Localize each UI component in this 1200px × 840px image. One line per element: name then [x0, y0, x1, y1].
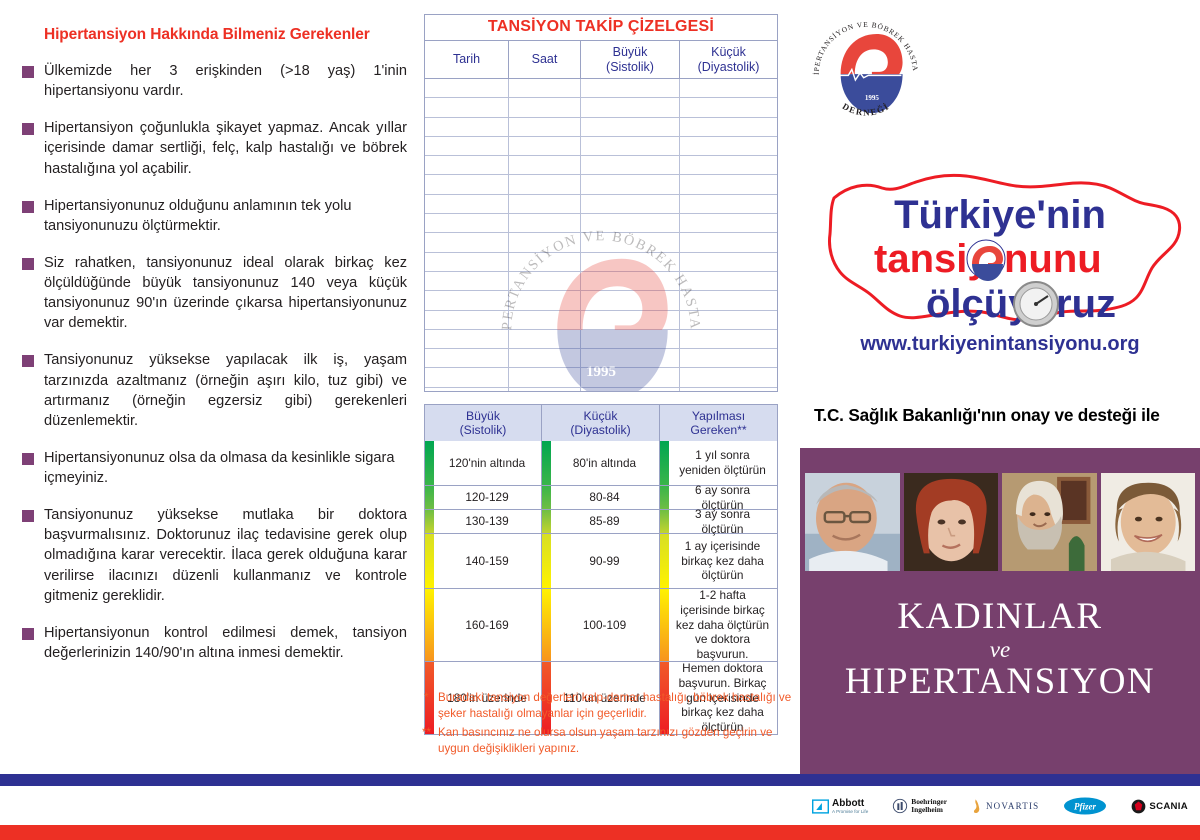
- tracking-table-row[interactable]: [425, 291, 777, 310]
- tracking-table-cell[interactable]: [680, 98, 777, 116]
- tracking-table-cell[interactable]: [581, 137, 680, 155]
- systolic-label-line2: (Sistolik): [606, 60, 654, 74]
- tracking-table-cell[interactable]: [680, 214, 777, 232]
- campaign-line-nunu: nunu: [1004, 237, 1102, 281]
- tracking-table-cell[interactable]: [680, 137, 777, 155]
- tracking-table-cell[interactable]: [509, 233, 581, 251]
- campaign-line-ruz: ruz: [1056, 282, 1116, 326]
- tracking-table-row[interactable]: [425, 214, 777, 233]
- severity-gradient-bar: [542, 534, 551, 588]
- tracking-table-cell[interactable]: [680, 175, 777, 193]
- red-footer-bar: [0, 825, 1200, 840]
- tracking-table-cell[interactable]: [425, 368, 509, 386]
- class-cell-systolic: 130-139: [425, 510, 542, 533]
- tracking-table-cell[interactable]: [509, 156, 581, 174]
- tracking-table-row[interactable]: [425, 98, 777, 117]
- class-cell-diastolic: 90-99: [542, 534, 660, 588]
- sponsor-novartis: NOVARTIS: [971, 798, 1039, 814]
- class-cell-diastolic-text: 90-99: [589, 554, 619, 569]
- severity-gradient-bar: [425, 534, 434, 588]
- tracking-table-row[interactable]: [425, 311, 777, 330]
- pressure-gauge-icon: [1014, 282, 1058, 326]
- tracking-table-cell[interactable]: [581, 214, 680, 232]
- photo-strip: [805, 473, 1195, 571]
- class-cell-diastolic: 80-84: [542, 486, 660, 509]
- class-cell-systolic-text: 160-169: [465, 618, 508, 633]
- systolic-label-line1: Büyük: [606, 45, 654, 59]
- bullet-square-icon: [22, 510, 34, 522]
- tracking-table-cell[interactable]: [509, 291, 581, 309]
- tracking-table-row[interactable]: [425, 368, 777, 387]
- elderly-woman-headscarf-photo: [1002, 473, 1097, 571]
- blue-divider-bar: [0, 774, 1200, 786]
- class-cell-action-text: 1 yıl sonra yeniden ölçtürün: [674, 448, 771, 477]
- info-bullet-item: Siz rahatken, tansiyonunuz ideal olarak …: [22, 253, 407, 334]
- tracking-col-header-systolic: Büyük (Sistolik): [581, 41, 680, 78]
- tracking-table-cell[interactable]: [680, 349, 777, 367]
- class-cell-diastolic: 100-109: [542, 589, 660, 661]
- tracking-table-cell[interactable]: [509, 79, 581, 97]
- tracking-table-cell[interactable]: [509, 330, 581, 348]
- tracking-table-cell[interactable]: [581, 79, 680, 97]
- class-cell-action-text: 3 ay sonra ölçtürün: [674, 507, 771, 536]
- tracking-table-cell[interactable]: [425, 291, 509, 309]
- info-bullet-list: Ülkemizde her 3 erişkinden (>18 yaş) 1'i…: [22, 61, 407, 663]
- class-cell-systolic-text: 140-159: [465, 554, 508, 569]
- tracking-table-cell[interactable]: [680, 291, 777, 309]
- bullet-square-icon: [22, 66, 34, 78]
- tracking-table-cell[interactable]: [425, 98, 509, 116]
- info-bullet-item: Tansiyonunuz yüksekse mutlaka bir doktor…: [22, 505, 407, 606]
- tracking-table-cell[interactable]: [581, 349, 680, 367]
- tracking-table-cell[interactable]: [581, 156, 680, 174]
- elderly-woman-with-glasses-photo: [805, 473, 900, 571]
- class-cell-action: 6 ay sonra ölçtürün: [660, 486, 777, 509]
- cover-panel: KADINLAR ve HIPERTANSIYON: [800, 448, 1200, 774]
- abbott-icon: [812, 798, 829, 815]
- boehringer-icon: [892, 798, 908, 814]
- tracking-table-cell[interactable]: [509, 388, 581, 392]
- scania-label: SCANIA: [1149, 801, 1188, 812]
- tracking-table-cell[interactable]: [581, 368, 680, 386]
- tracking-table-row[interactable]: [425, 137, 777, 156]
- pfizer-icon: Pfizer: [1063, 796, 1107, 816]
- info-column-heading: Hipertansiyon Hakkında Bilmeniz Gerekenl…: [44, 26, 407, 44]
- boehringer-label: BoehringerIngelheim: [911, 798, 947, 814]
- tracking-table-cell[interactable]: [680, 195, 777, 213]
- bullet-square-icon: [22, 123, 34, 135]
- tracking-table-cell[interactable]: [581, 388, 680, 392]
- info-bullet-text: Hipertansiyon çoğunlukla şikayet yapmaz.…: [44, 118, 407, 178]
- severity-gradient-bar: [660, 534, 669, 588]
- tracking-table-cell[interactable]: [509, 368, 581, 386]
- info-bullet-text: Siz rahatken, tansiyonunuz ideal olarak …: [44, 253, 407, 334]
- classification-row: 120'nin altında80'in altında1 yıl sonra …: [425, 441, 777, 485]
- tracking-table-cell[interactable]: [509, 272, 581, 290]
- info-bullet-text: Hipertansiyonun kontrol edilmesi demek, …: [44, 623, 407, 663]
- tracking-table-row[interactable]: [425, 175, 777, 194]
- classification-header-row: Büyük (Sistolik) Küçük (Diyastolik) Yapı…: [425, 405, 777, 441]
- severity-gradient-bar: [425, 510, 434, 533]
- info-bullet-item: Ülkemizde her 3 erişkinden (>18 yaş) 1'i…: [22, 61, 407, 101]
- footnotes: *Buradaki tansiyon değerleri kalp-damar …: [424, 690, 794, 760]
- severity-gradient-bar: [660, 510, 669, 533]
- tracking-table-cell[interactable]: [425, 311, 509, 329]
- tracking-table-row[interactable]: [425, 349, 777, 368]
- tracking-table-cell[interactable]: [425, 137, 509, 155]
- info-bullet-item: Hipertansiyonunuz olsa da olmasa da kesi…: [22, 448, 407, 488]
- class-cell-action: 1 ay içerisinde birkaç kez daha ölçtürün: [660, 534, 777, 588]
- class-cell-systolic-text: 130-139: [465, 514, 508, 529]
- classification-row: 120-12980-846 ay sonra ölçtürün: [425, 485, 777, 509]
- campaign-line-turkiyenin: Türkiye'nin: [894, 193, 1106, 237]
- abbott-label: Abbott: [832, 798, 868, 809]
- class-cell-systolic: 120-129: [425, 486, 542, 509]
- classification-row: 130-13985-893 ay sonra ölçtürün: [425, 509, 777, 533]
- title-line-kadinlar: KADINLAR: [800, 598, 1200, 637]
- class-cell-action: 1-2 hafta içerisinde birkaç kez daha ölç…: [660, 589, 777, 661]
- brochure-page: Hipertansiyon Hakkında Bilmeniz Gerekenl…: [0, 0, 1200, 840]
- classification-row: 140-15990-991 ay içerisinde birkaç kez d…: [425, 533, 777, 588]
- bullet-square-icon: [22, 355, 34, 367]
- tracking-table-cell[interactable]: [680, 118, 777, 136]
- tracking-table-cell[interactable]: [581, 233, 680, 251]
- class-cell-action-text: 1-2 hafta içerisinde birkaç kez daha ölç…: [674, 588, 771, 662]
- campaign-logo: Türkiye'nin tansiy nunu ölçüy ruz www.tu…: [808, 142, 1192, 364]
- tracking-table-cell[interactable]: [509, 311, 581, 329]
- abbott-tagline: A Promise for Life: [832, 809, 868, 814]
- tracking-table-cell[interactable]: [680, 253, 777, 271]
- footnote-text: Kan basıncınız ne olursa olsun yaşam tar…: [438, 726, 772, 755]
- tracking-table-cell[interactable]: [581, 311, 680, 329]
- tracking-table-cell[interactable]: [509, 137, 581, 155]
- tracking-table-cell[interactable]: [509, 98, 581, 116]
- tracking-table-cell[interactable]: [581, 291, 680, 309]
- class-cell-diastolic-text: 100-109: [583, 618, 626, 633]
- info-column: Hipertansiyon Hakkında Bilmeniz Gerekenl…: [22, 26, 407, 680]
- tracking-table-cell[interactable]: [680, 233, 777, 251]
- info-bullet-item: Hipertansiyonun kontrol edilmesi demek, …: [22, 623, 407, 663]
- tracking-col-header-time: Saat: [509, 41, 581, 78]
- tracking-col-header-diastolic: Küçük (Diyastolik): [680, 41, 777, 78]
- class-col-header-action: Yapılması Gereken**: [660, 405, 777, 441]
- class-cell-systolic: 140-159: [425, 534, 542, 588]
- tracking-table-cell[interactable]: [425, 175, 509, 193]
- class-cell-diastolic-text: 85-89: [589, 514, 619, 529]
- info-bullet-text: Hipertansiyonunuz olsa da olmasa da kesi…: [44, 448, 407, 488]
- tracking-table-cell[interactable]: [509, 175, 581, 193]
- severity-gradient-bar: [425, 589, 434, 661]
- tracking-table-row[interactable]: [425, 388, 777, 392]
- tracking-table-cell[interactable]: [680, 156, 777, 174]
- young-woman-red-hair-photo: [904, 473, 999, 571]
- severity-gradient-bar: [660, 441, 669, 485]
- diastolic-label-line2: (Diyastolik): [698, 60, 760, 74]
- brochure-title: KADINLAR ve HIPERTANSIYON: [800, 598, 1200, 702]
- class-cell-systolic: 160-169: [425, 589, 542, 661]
- campaign-website-url[interactable]: www.turkiyenintansiyonu.org: [859, 333, 1139, 355]
- tracking-table-cell[interactable]: [425, 388, 509, 392]
- tracking-table-cell[interactable]: [581, 272, 680, 290]
- tracking-table-cell[interactable]: [425, 214, 509, 232]
- class-col-header-diastolic: Küçük (Diyastolik): [542, 405, 660, 441]
- tracking-table-cell[interactable]: [425, 253, 509, 271]
- tracking-table-row[interactable]: [425, 156, 777, 175]
- tracking-table-row[interactable]: [425, 330, 777, 349]
- tracking-table-title: TANSİYON TAKİP ÇİZELGESİ: [425, 15, 777, 41]
- tracking-table-body: [425, 79, 777, 392]
- tracking-table-header-row: Tarih Saat Büyük (Sistolik) Küçük (Diyas…: [425, 41, 777, 79]
- diastolic-label-line1: Küçük: [698, 45, 760, 59]
- severity-gradient-bar: [542, 589, 551, 661]
- tracking-table-row[interactable]: [425, 233, 777, 252]
- tracking-table-cell[interactable]: [425, 156, 509, 174]
- info-bullet-item: Hipertansiyonunuz olduğunu anlamının tek…: [22, 196, 407, 236]
- tracking-table-row[interactable]: [425, 79, 777, 98]
- title-connector-ve: ve: [800, 637, 1200, 663]
- tracking-table-cell[interactable]: [680, 79, 777, 97]
- severity-gradient-bar: [542, 486, 551, 509]
- novartis-label: NOVARTIS: [986, 801, 1039, 811]
- tracking-table-cell[interactable]: [509, 253, 581, 271]
- footnote-marker: **: [422, 725, 431, 741]
- tracking-table-cell[interactable]: [509, 195, 581, 213]
- info-bullet-item: Tansiyonunuz yüksekse yapılacak ilk iş, …: [22, 350, 407, 431]
- bullet-square-icon: [22, 453, 34, 465]
- tracking-table-cell[interactable]: [425, 195, 509, 213]
- info-bullet-text: Tansiyonunuz yüksekse yapılacak ilk iş, …: [44, 350, 407, 431]
- sponsor-boehringer-ingelheim: BoehringerIngelheim: [892, 798, 947, 814]
- info-bullet-text: Tansiyonunuz yüksekse mutlaka bir doktor…: [44, 505, 407, 606]
- footnote-text: Buradaki tansiyon değerleri kalp-damar h…: [438, 691, 791, 720]
- class-cell-diastolic-text: 80'in altında: [573, 456, 636, 471]
- info-bullet-text: Hipertansiyonunuz olduğunu anlamının tek…: [44, 196, 407, 236]
- tracking-table-cell[interactable]: [680, 311, 777, 329]
- tracking-col-header-date: Tarih: [425, 41, 509, 78]
- severity-gradient-bar: [542, 441, 551, 485]
- classification-row: 160-169100-1091-2 hafta içerisinde birka…: [425, 588, 777, 661]
- tracking-table-row[interactable]: [425, 253, 777, 272]
- novartis-icon: [971, 798, 983, 814]
- tracking-table-cell[interactable]: [581, 118, 680, 136]
- tracking-table-cell[interactable]: [581, 175, 680, 193]
- info-bullet-item: Hipertansiyon çoğunlukla şikayet yapmaz.…: [22, 118, 407, 178]
- severity-gradient-bar: [660, 589, 669, 661]
- tracking-table-cell[interactable]: [509, 118, 581, 136]
- tracking-table-cell[interactable]: [425, 233, 509, 251]
- class-col-header-systolic: Büyük (Sistolik): [425, 405, 542, 441]
- class-cell-systolic-text: 120-129: [465, 490, 508, 505]
- class-cell-systolic: 120'nin altında: [425, 441, 542, 485]
- scania-icon: [1131, 799, 1146, 814]
- smiling-young-woman-photo: [1101, 473, 1196, 571]
- severity-gradient-bar: [425, 441, 434, 485]
- tracking-table-row[interactable]: [425, 118, 777, 137]
- sponsor-abbott: Abbott A Promise for Life: [812, 798, 868, 815]
- tracking-table-cell[interactable]: [680, 272, 777, 290]
- info-bullet-text: Ülkemizde her 3 erişkinden (>18 yaş) 1'i…: [44, 61, 407, 101]
- tracking-table-cell[interactable]: [581, 195, 680, 213]
- tracking-table-cell[interactable]: [680, 330, 777, 348]
- severity-gradient-bar: [425, 486, 434, 509]
- society-logo: 1995 TÜRK HİPERTANSİYON VE BÖBREK HASTAL…: [800, 14, 932, 132]
- bullet-square-icon: [22, 201, 34, 213]
- severity-gradient-bar: [542, 510, 551, 533]
- tracking-table-cell[interactable]: [581, 98, 680, 116]
- tracking-table-row[interactable]: [425, 195, 777, 214]
- sponsor-pfizer: Pfizer: [1063, 796, 1107, 816]
- severity-gradient-bar: [660, 486, 669, 509]
- tracking-table-cell[interactable]: [425, 118, 509, 136]
- tracking-table-cell[interactable]: [680, 388, 777, 392]
- svg-text:Pfizer: Pfizer: [1074, 802, 1096, 812]
- class-cell-diastolic-text: 80-84: [589, 490, 619, 505]
- tracking-table-cell[interactable]: [425, 330, 509, 348]
- tracking-table-cell[interactable]: [425, 349, 509, 367]
- tracking-table-cell[interactable]: [509, 349, 581, 367]
- blood-pressure-classification-table: Büyük (Sistolik) Küçük (Diyastolik) Yapı…: [424, 404, 778, 735]
- class-cell-action-text: 1 ay içerisinde birkaç kez daha ölçtürün: [674, 539, 771, 583]
- footnote-marker: *: [424, 690, 429, 706]
- tracking-table-cell[interactable]: [581, 253, 680, 271]
- title-line-hipertansiyon: HIPERTANSIYON: [800, 663, 1200, 702]
- class-cell-diastolic: 85-89: [542, 510, 660, 533]
- class-cell-action: 3 ay sonra ölçtürün: [660, 510, 777, 533]
- sponsor-logo-bar: Abbott A Promise for Life BoehringerInge…: [800, 790, 1200, 822]
- tracking-table-cell[interactable]: [680, 368, 777, 386]
- class-cell-action: 1 yıl sonra yeniden ölçtürün: [660, 441, 777, 485]
- class-cell-diastolic: 80'in altında: [542, 441, 660, 485]
- tracking-table-row[interactable]: [425, 272, 777, 291]
- footnote: *Buradaki tansiyon değerleri kalp-damar …: [424, 690, 794, 723]
- tracking-table-cell[interactable]: [581, 330, 680, 348]
- tracking-table-cell[interactable]: [425, 79, 509, 97]
- tracking-table-cell[interactable]: [509, 214, 581, 232]
- sponsor-scania: SCANIA: [1131, 799, 1188, 814]
- bullet-square-icon: [22, 628, 34, 640]
- tracking-table-cell[interactable]: [425, 272, 509, 290]
- blood-pressure-tracking-table: TANSİYON TAKİP ÇİZELGESİ Tarih Saat Büyü…: [424, 14, 778, 392]
- bullet-square-icon: [22, 258, 34, 270]
- logo-year: 1995: [865, 94, 880, 102]
- ministry-endorsement-line: T.C. Sağlık Bakanlığı'nın onay ve desteğ…: [814, 405, 1194, 426]
- class-cell-systolic-text: 120'nin altında: [449, 456, 525, 471]
- footnote: **Kan basıncınız ne olursa olsun yaşam t…: [424, 725, 794, 758]
